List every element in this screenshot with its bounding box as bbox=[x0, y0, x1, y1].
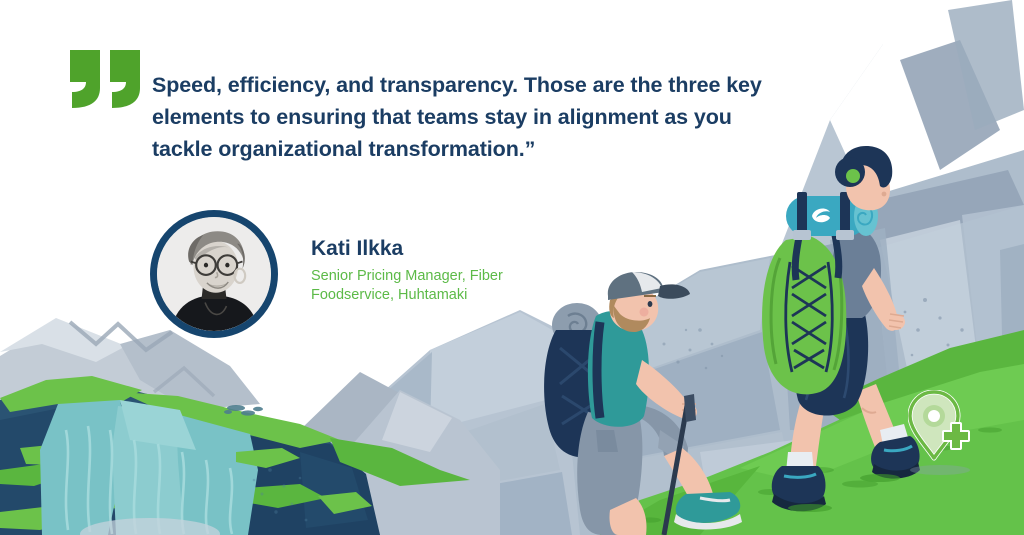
avatar bbox=[150, 210, 278, 338]
open-quote-icon bbox=[68, 48, 144, 110]
testimonial-card: Speed, efficiency, and transparency. Tho… bbox=[0, 0, 1024, 535]
quote-text: Speed, efficiency, and transparency. Tho… bbox=[152, 70, 792, 165]
attribution-block: Kati Ilkka Senior Pricing Manager, Fiber… bbox=[311, 236, 551, 305]
person-title: Senior Pricing Manager, Fiber Foodservic… bbox=[311, 267, 551, 305]
person-name: Kati Ilkka bbox=[311, 236, 551, 261]
portrait-photo bbox=[157, 217, 271, 331]
map-pin-plus-icon bbox=[908, 390, 972, 464]
